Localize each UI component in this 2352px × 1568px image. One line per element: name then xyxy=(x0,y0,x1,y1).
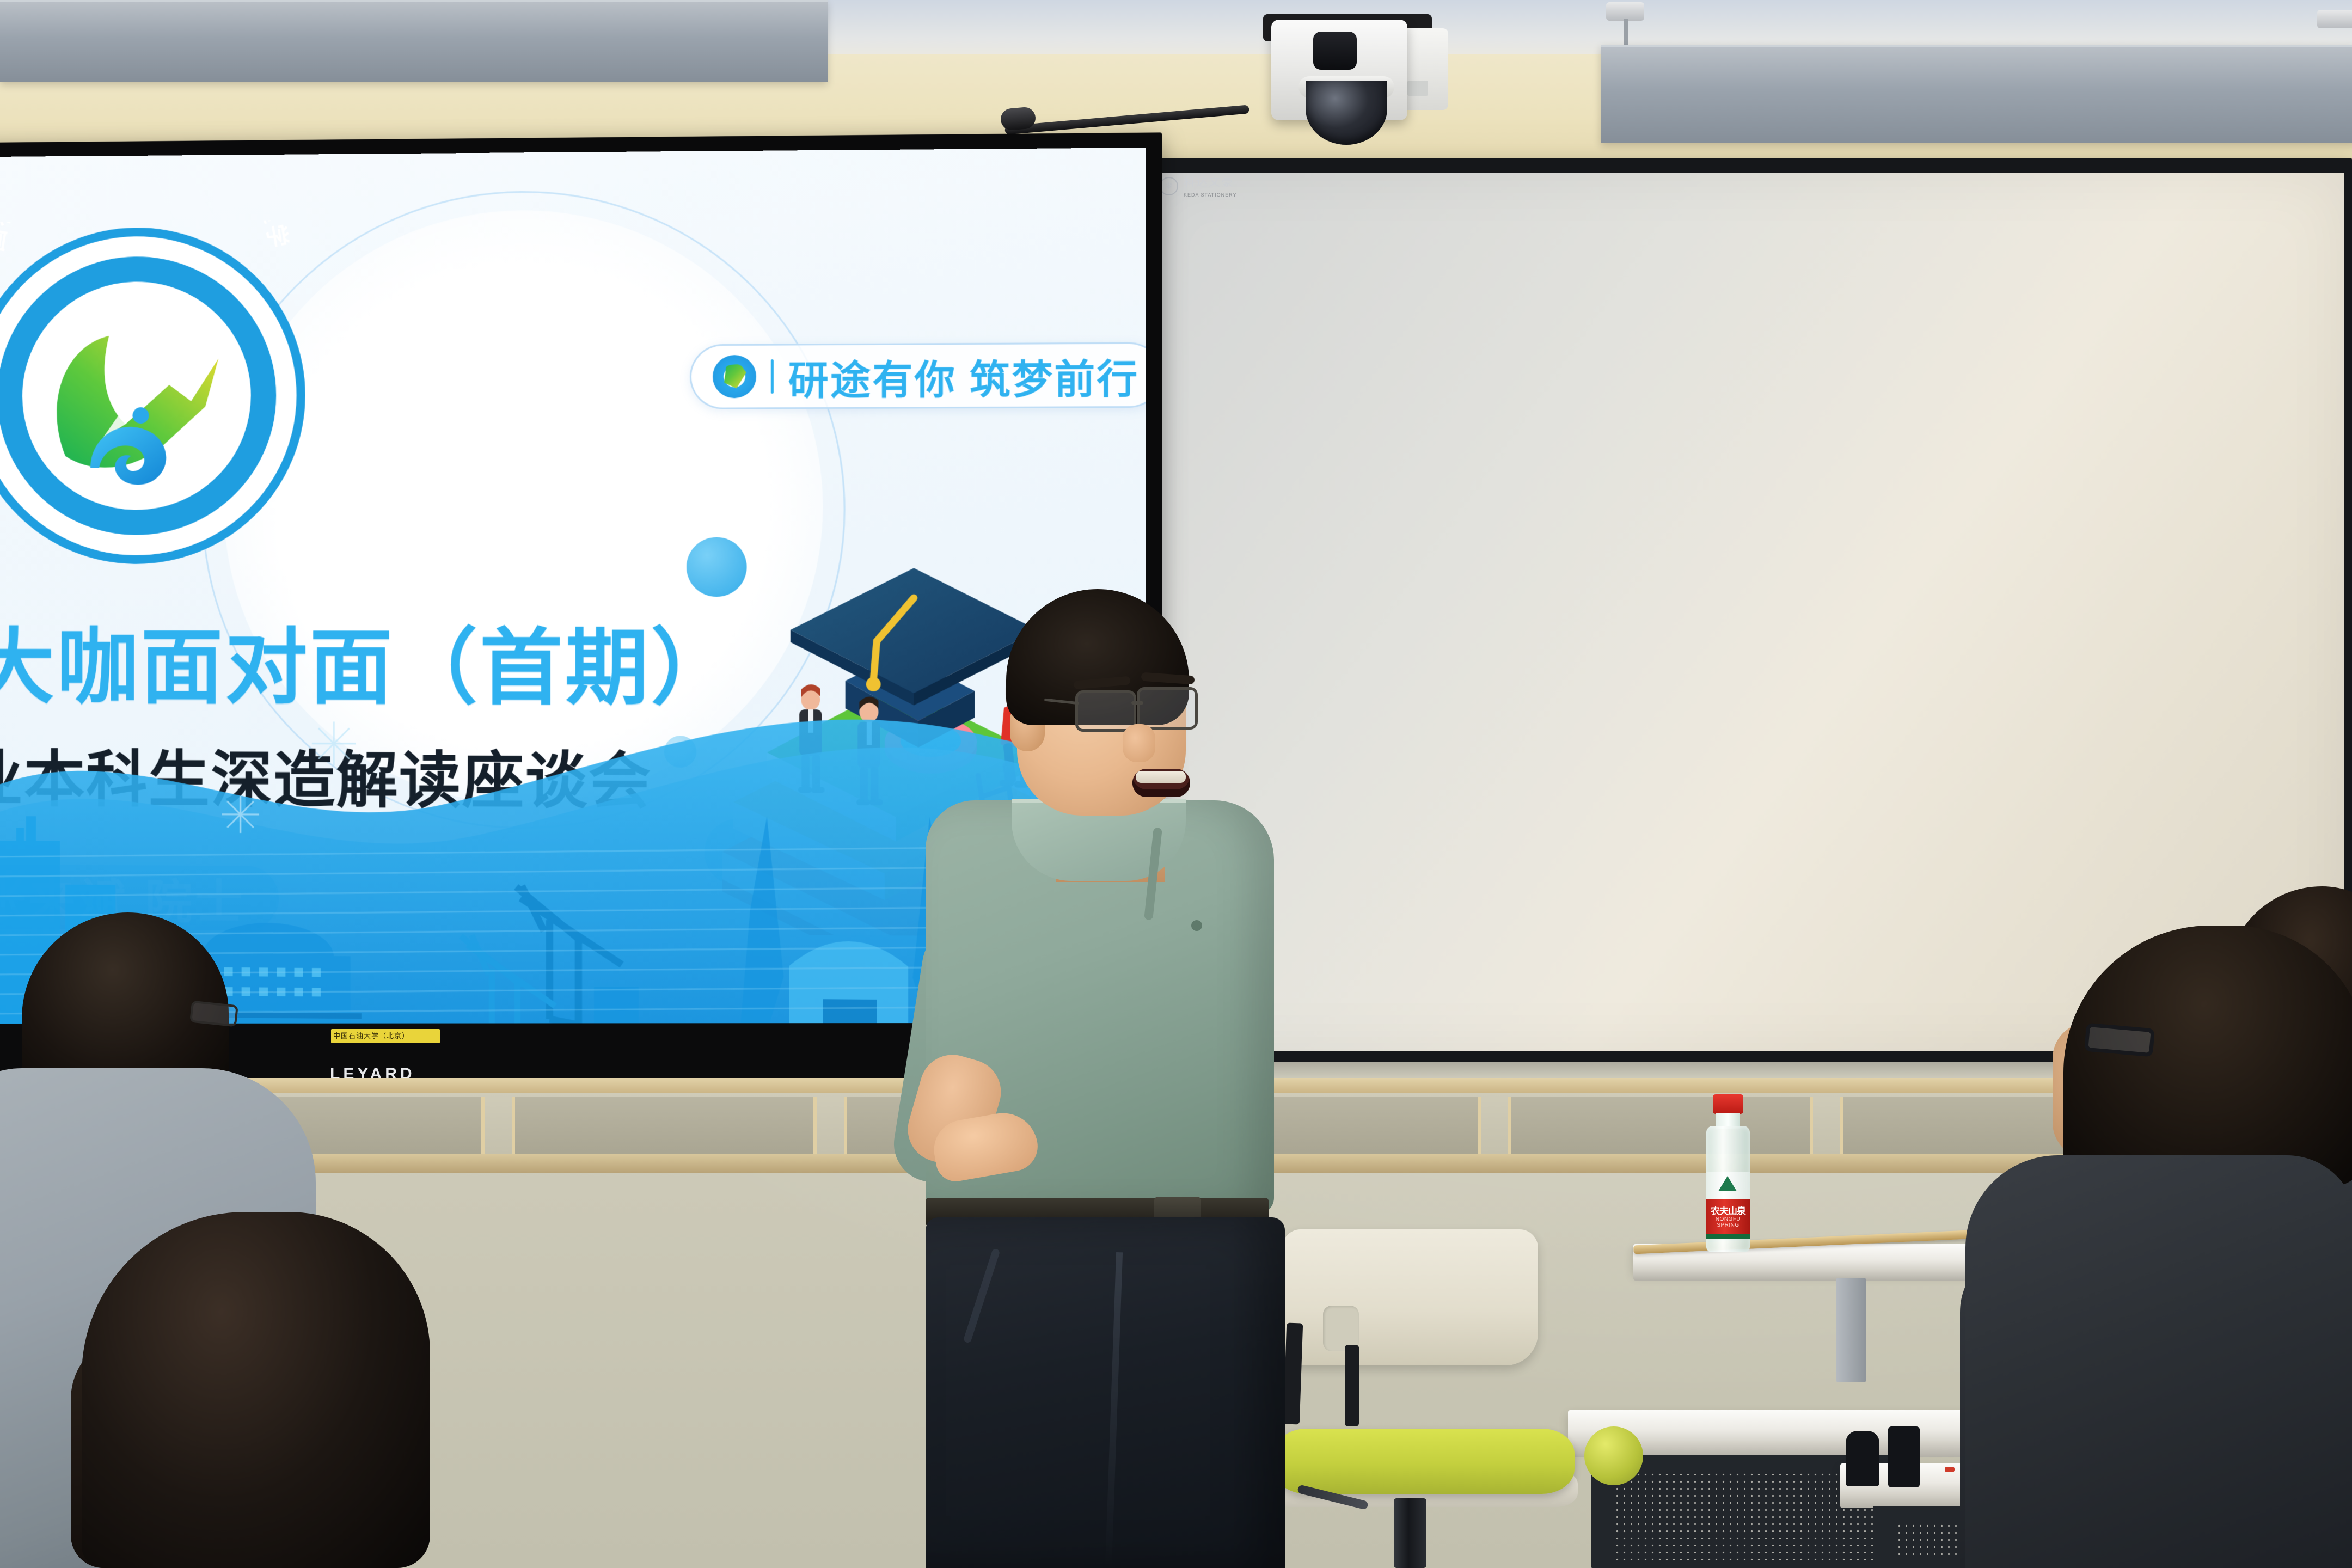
badge-slogan-text: 研途有你 筑梦前行 xyxy=(788,346,1140,405)
led-wall-sticker: 中国石油大学（北京） xyxy=(331,1029,440,1043)
chair-gas-cylinder xyxy=(1394,1498,1426,1568)
speaker-shirt-button xyxy=(1191,920,1202,931)
camera-sensor-window xyxy=(1313,32,1357,70)
ledge-slot-5 xyxy=(1508,1097,1813,1155)
water-bottle[interactable]: 农夫山泉 NONGFU SPRING xyxy=(1699,1094,1757,1252)
desk-ball-object xyxy=(1584,1426,1643,1485)
eyeglasses-bridge xyxy=(1131,701,1143,705)
ceiling-acoustic-baffle-left xyxy=(0,0,828,82)
bezel-brand-mark-icon: ❄ xyxy=(1160,177,1178,195)
audience-right-shirt xyxy=(1965,1155,2352,1568)
bezel-brand-sub: KEDA STATIONERY xyxy=(1184,192,1237,198)
desk-object-figurine xyxy=(1888,1426,1920,1487)
bottle-brand-en: NONGFU SPRING xyxy=(1706,1216,1750,1228)
bottle-brand-cn: 农夫山泉 xyxy=(1706,1203,1750,1217)
baffle-mount-right xyxy=(2317,10,2352,28)
slide-top-badge: 研途有你 筑梦前行 xyxy=(690,342,1146,409)
badge-divider xyxy=(771,359,774,394)
speaker-nose xyxy=(1123,724,1155,762)
chair-backrest[interactable] xyxy=(1282,1229,1538,1365)
led-sticker-text: 中国石油大学（北京） xyxy=(331,1029,440,1043)
bezel-brand-label: ❄ 科达文豪 KEDA STATIONERY xyxy=(1160,173,1237,199)
speaker-teeth xyxy=(1136,771,1186,783)
chair-support-post-right xyxy=(1345,1345,1359,1426)
ledge-slot-2 xyxy=(512,1097,817,1155)
desk-leg-rear xyxy=(1836,1278,1866,1382)
college-seal-icon: 中国石油大学(北京)安全与海洋工程学院 COLLEGE OF SAFETY AN… xyxy=(0,220,312,571)
bottle-label-stripe xyxy=(1706,1234,1750,1239)
eyeglasses-lens-right-icon xyxy=(1137,687,1198,730)
classroom-photo-scene: ❄ 科达文豪 KEDA STATIONERY xyxy=(0,0,2352,1568)
bezel-brand-text: 科达文豪 xyxy=(1184,176,1234,188)
bottle-mountain-icon xyxy=(1718,1176,1737,1191)
baffle-mount-left xyxy=(1606,2,1644,21)
audience-right-eyeglasses-icon xyxy=(2084,1023,2155,1057)
chair-seat-cushion[interactable] xyxy=(1274,1429,1575,1494)
audience-ponytail-head xyxy=(82,1212,430,1568)
desk-object-bottle-cap xyxy=(1846,1431,1879,1486)
whiteboard-surface xyxy=(1141,173,2344,1051)
ceiling-acoustic-baffle-right xyxy=(1601,45,2352,143)
desk-object-marker-tip xyxy=(1945,1467,1955,1472)
camera-label-chip xyxy=(1407,81,1428,96)
bottle-cap xyxy=(1713,1094,1743,1114)
eyeglasses-lens-left-icon xyxy=(1075,690,1136,732)
speaker-trousers xyxy=(926,1217,1285,1568)
badge-emblem-icon xyxy=(713,355,756,398)
